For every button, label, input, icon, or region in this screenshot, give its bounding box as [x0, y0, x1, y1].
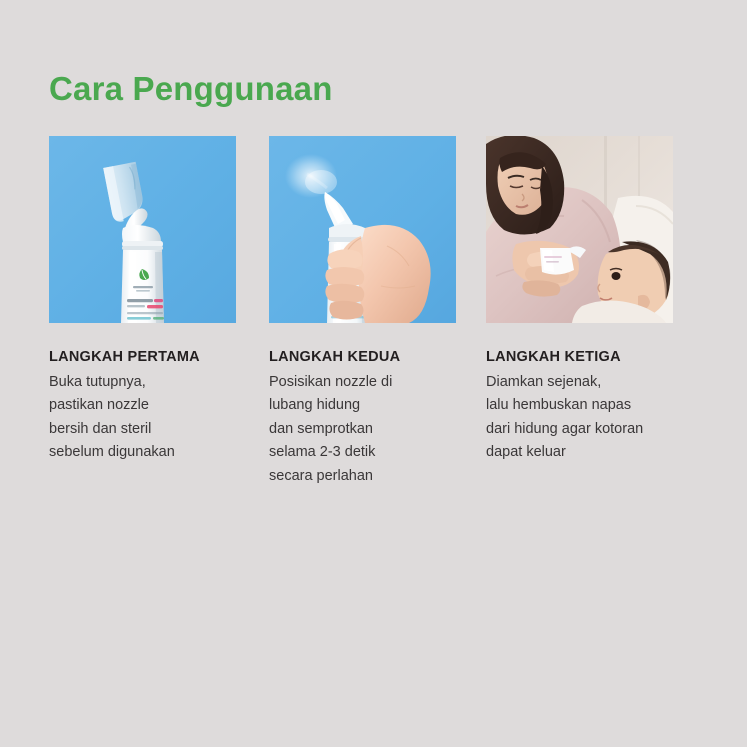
step-2-image-panel	[269, 136, 456, 323]
step-3-heading: LANGKAH KETIGA	[486, 349, 696, 365]
step-1-caption: LANGKAH PERTAMA Buka tutupnya, pastikan …	[49, 349, 259, 465]
step-1-body: Buka tutupnya, pastikan nozzle bersih da…	[49, 371, 259, 465]
page-title: Cara Penggunaan	[49, 70, 333, 108]
nasal-spray-open-cap-photo	[49, 136, 236, 323]
step-3-image-panel	[486, 136, 673, 323]
step-column-1: LANGKAH PERTAMA Buka tutupnya, pastikan …	[49, 136, 236, 323]
usage-instructions-poster: Cara Penggunaan	[0, 0, 747, 747]
step-2-caption: LANGKAH KEDUA Posisikan nozzle di lubang…	[269, 349, 479, 488]
step-column-2: LANGKAH KEDUA Posisikan nozzle di lubang…	[269, 136, 456, 323]
step-3-body: Diamkan sejenak, lalu hembuskan napas da…	[486, 371, 696, 465]
step-2-body: Posisikan nozzle di lubang hidung dan se…	[269, 371, 479, 488]
mother-and-baby-photo	[486, 136, 673, 323]
step-column-3: LANGKAH KETIGA Diamkan sejenak, lalu hem…	[486, 136, 673, 323]
step-3-caption: LANGKAH KETIGA Diamkan sejenak, lalu hem…	[486, 349, 696, 465]
step-1-heading: LANGKAH PERTAMA	[49, 349, 259, 365]
step-1-image-panel	[49, 136, 236, 323]
hand-holding-spray-photo	[269, 136, 456, 323]
step-2-heading: LANGKAH KEDUA	[269, 349, 479, 365]
